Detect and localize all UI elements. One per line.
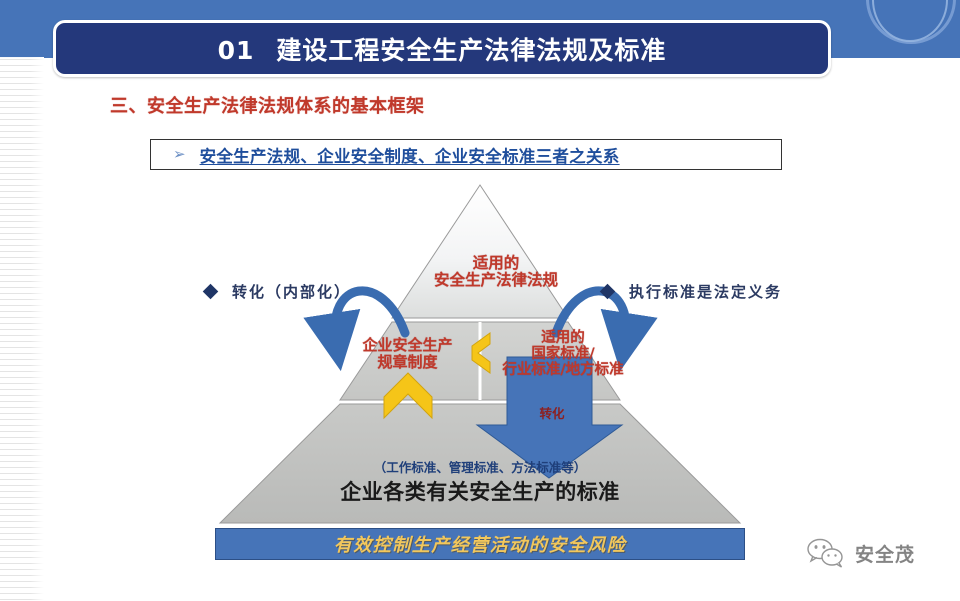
slide-canvas: 01建设工程安全生产法律法规及标准 三、安全生产法律法规体系的基本框架 ➢ 安全… (0, 0, 960, 601)
annotation-left-text: 转化（内部化） (232, 281, 351, 302)
diamond-bullet-left-icon (203, 284, 219, 300)
section-title: 建设工程安全生产法律法规及标准 (276, 36, 666, 65)
apex-line-2: 安全生产法律法规 (391, 272, 601, 289)
mid-right-line-3: 行业标准/地方标准 (483, 362, 643, 378)
mid-left-line-2: 规章制度 (340, 354, 475, 371)
mid-right-line-1: 适用的 (483, 330, 643, 346)
watermark-text: 安全茂 (855, 540, 915, 567)
pyramid-mid-right-label: 适用的 国家标准/ 行业标准/地方标准 (483, 330, 643, 379)
watermark: 安全茂 (806, 538, 915, 568)
wechat-icon (806, 538, 846, 568)
apex-line-1: 适用的 (391, 255, 601, 272)
arrow-bullet-icon: ➢ (173, 147, 186, 162)
topic-box: ➢ 安全生产法规、企业安全制度、企业安全标准三者之关系 (150, 139, 782, 170)
pyramid-apex-label: 适用的 安全生产法律法规 (391, 255, 601, 290)
topic-text: 安全生产法规、企业安全制度、企业安全标准三者之关系 (200, 143, 620, 167)
section-subtitle: 三、安全生产法律法规体系的基本框架 (110, 92, 425, 118)
annotation-right: 执行标准是法定义务 (602, 281, 782, 302)
bottom-result-text: 有效控制生产经营活动的安全风险 (334, 531, 627, 557)
pyramid-tier-apex (392, 185, 568, 318)
mid-left-line-1: 企业安全生产 (340, 337, 475, 354)
mid-right-line-2: 国家标准/ (483, 346, 643, 362)
page-title: 01建设工程安全生产法律法规及标准 (218, 31, 667, 67)
pyramid-mid-left-label: 企业安全生产 规章制度 (340, 337, 475, 371)
slide-title-box: 01建设工程安全生产法律法规及标准 (53, 20, 831, 77)
pyramid-base-sublabel: （工作标准、管理标准、方法标准等） (330, 461, 630, 475)
section-number: 01 (218, 36, 255, 65)
pyramid-graphics (0, 178, 960, 578)
diamond-bullet-right-icon (600, 284, 616, 300)
down-arrow-label: 转化 (517, 407, 587, 421)
annotation-left: 转化（内部化） (205, 281, 351, 302)
pyramid-base-label: 企业各类有关安全生产的标准 (280, 481, 680, 505)
annotation-right-text: 执行标准是法定义务 (629, 281, 782, 302)
bottom-result-bar: 有效控制生产经营活动的安全风险 (215, 528, 745, 560)
pyramid-diagram: 适用的 安全生产法律法规 企业安全生产 规章制度 适用的 国家标准/ 行业标准/… (0, 178, 960, 578)
